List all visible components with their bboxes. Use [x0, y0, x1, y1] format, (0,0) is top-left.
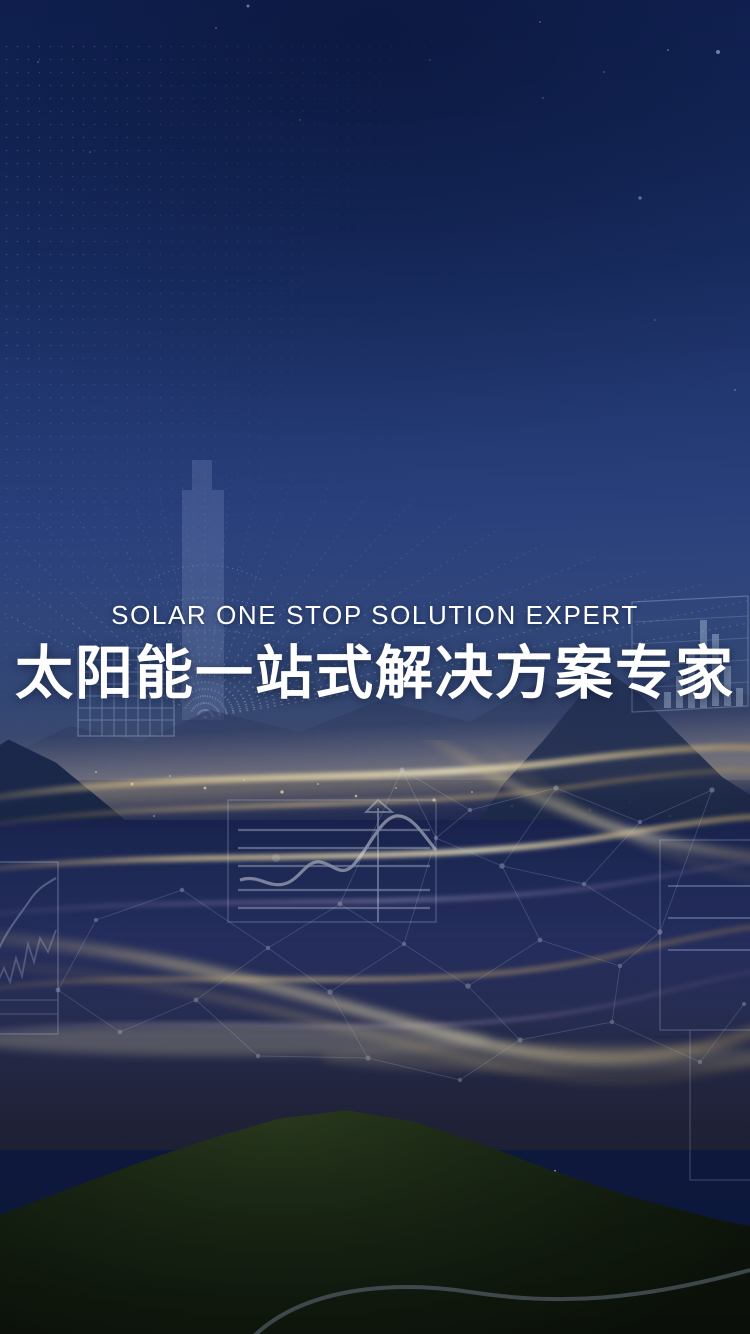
- hero-eyebrow: SOLAR ONE STOP SOLUTION EXPERT: [0, 598, 750, 632]
- hero-banner: SOLAR ONE STOP SOLUTION EXPERT 太阳能一站式解决方…: [0, 0, 750, 1334]
- hero-copy: SOLAR ONE STOP SOLUTION EXPERT 太阳能一站式解决方…: [0, 598, 750, 710]
- page-title: 太阳能一站式解决方案专家: [0, 638, 750, 710]
